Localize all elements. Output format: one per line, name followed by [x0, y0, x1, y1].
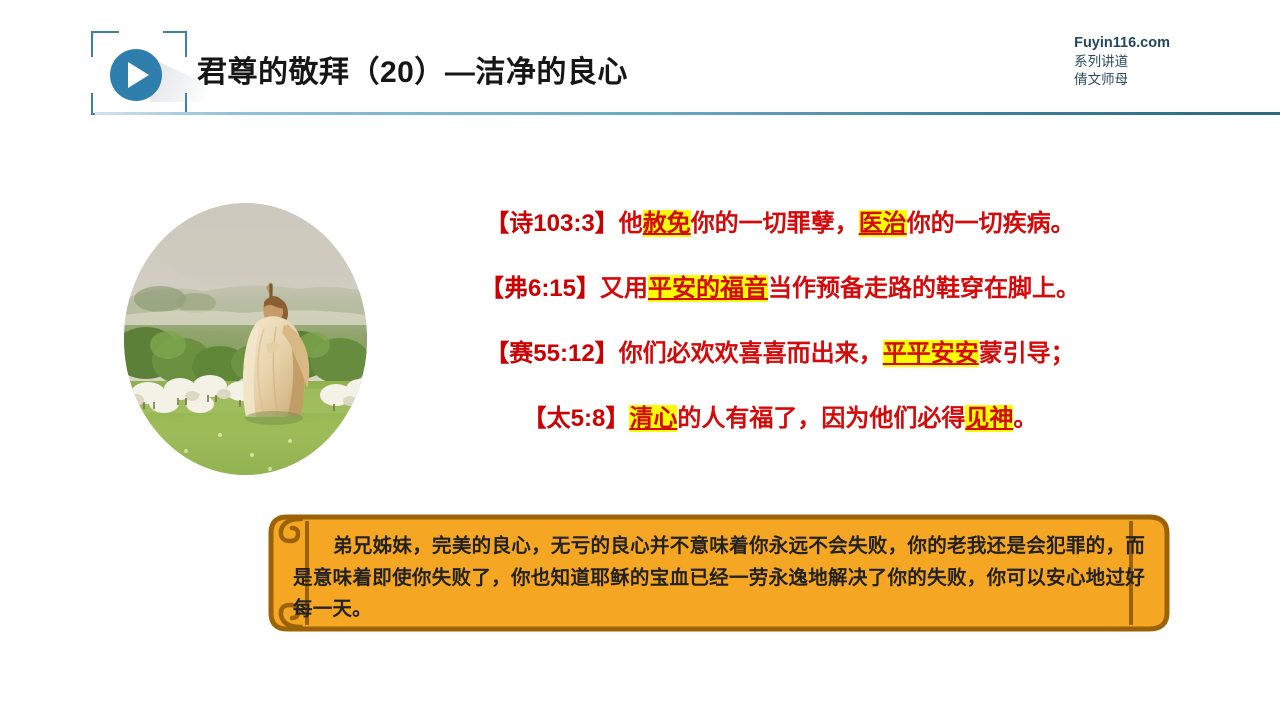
verse-reference: 【诗103:3】 — [485, 210, 618, 237]
verse-highlight: 医治 — [859, 210, 907, 237]
brand-block: Fuyin116.com 系列讲道 倩文师母 — [1074, 34, 1170, 89]
verse-text: 你们必欢欢喜喜而出来， — [619, 340, 883, 367]
verse-text: 他 — [619, 210, 643, 237]
brand-series-label: 系列讲道 — [1074, 53, 1170, 71]
callout-body-text: 弟兄姊妹，完美的良心，无亏的良心并不意味着你永远不会失败，你的老我还是会犯罪的，… — [293, 531, 1145, 626]
play-triangle-icon — [128, 62, 149, 88]
header-divider — [95, 112, 1280, 115]
verse-reference: 【太5:8】 — [523, 405, 630, 432]
verse-list: 【诗103:3】他赦免你的一切罪孽，医治你的一切疾病。【弗6:15】又用平安的福… — [380, 212, 1180, 472]
page-title: 君尊的敬拜（20）—洁净的良心 — [197, 47, 628, 91]
verse-highlight: 平平安安 — [883, 340, 979, 367]
verse-highlight: 赦免 — [643, 210, 691, 237]
verse-line: 【诗103:3】他赦免你的一切罪孽，医治你的一切疾病。 — [380, 212, 1180, 277]
shepherd-circle-image — [124, 203, 367, 475]
shepherd-illustration — [124, 203, 367, 475]
verse-line: 【赛55:12】你们必欢欢喜喜而出来，平平安安蒙引导； — [380, 342, 1180, 407]
callout-scroll: 弟兄姊妹，完美的良心，无亏的良心并不意味着你永远不会失败，你的老我还是会犯罪的，… — [265, 509, 1175, 637]
verse-text: 。 — [1013, 405, 1037, 432]
verse-highlight: 平安的福音 — [648, 275, 768, 302]
verse-text: 你的一切罪孽， — [691, 210, 859, 237]
frame-notch-left — [90, 57, 95, 93]
frame-notch-top — [119, 30, 163, 35]
verse-text: 你的一切疾病。 — [907, 210, 1075, 237]
verse-line: 【太5:8】清心的人有福了，因为他们必得见神。 — [380, 407, 1180, 472]
verse-text: 的人有福了，因为他们必得 — [677, 405, 965, 432]
play-button-icon[interactable] — [110, 49, 162, 101]
verse-reference: 【赛55:12】 — [485, 340, 618, 367]
verse-reference: 【弗6:15】 — [480, 275, 600, 302]
verse-highlight: 清心 — [629, 405, 677, 432]
verse-text: 当作预备走路的鞋穿在脚上。 — [768, 275, 1080, 302]
brand-speaker-label: 倩文师母 — [1074, 71, 1170, 89]
brand-site-name: Fuyin116.com — [1074, 34, 1170, 53]
verse-text: 又用 — [600, 275, 648, 302]
slide-header: 君尊的敬拜（20）—洁净的良心 Fuyin116.com 系列讲道 倩文师母 — [0, 0, 1280, 130]
verse-line: 【弗6:15】又用平安的福音当作预备走路的鞋穿在脚上。 — [380, 277, 1180, 342]
verse-text: 蒙引导； — [979, 340, 1075, 367]
verse-highlight: 见神 — [965, 405, 1013, 432]
